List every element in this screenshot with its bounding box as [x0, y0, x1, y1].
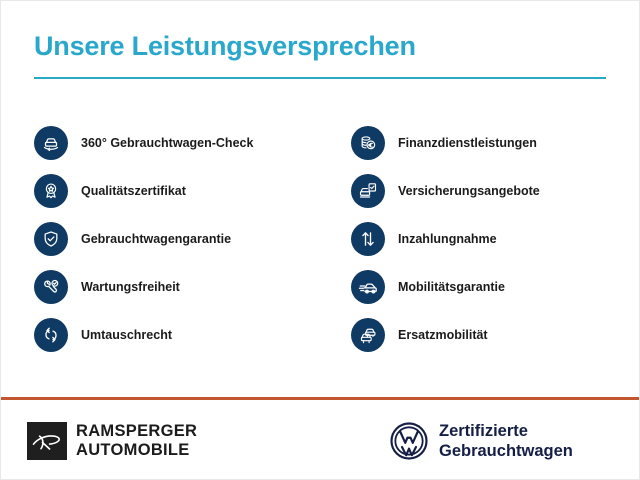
ramsperger-wordmark: RAMSPERGER AUTOMOBILE: [76, 422, 197, 460]
award-seal-icon: [34, 174, 68, 208]
feature-item-qualitaetszertifikat[interactable]: Qualitätszertifikat: [34, 167, 326, 215]
two-cars-icon: [351, 318, 385, 352]
feature-item-inzahlungnahme[interactable]: Inzahlungnahme: [351, 215, 640, 263]
feature-label: Versicherungsangebote: [398, 183, 540, 199]
brand-logo-wordmark: Zertifizierte Gebrauchtwagen: [439, 421, 573, 461]
brand-logo-line1: Zertifizierte: [439, 422, 528, 440]
exchange-arrows-icon: [34, 318, 68, 352]
volkswagen-logo-icon: [389, 421, 429, 461]
feature-label: Umtauschrecht: [81, 327, 172, 343]
feature-label: Ersatzmobilität: [398, 327, 488, 343]
car-360-check-icon: [34, 126, 68, 160]
promise-infographic-page: Unsere Leistungsversprechen 360° Gebrauc: [0, 0, 640, 480]
coins-euro-icon: [351, 126, 385, 160]
feature-item-finanzdienstleistungen[interactable]: Finanzdienstleistungen: [351, 119, 640, 167]
brand-logo[interactable]: Zertifizierte Gebrauchtwagen: [389, 421, 573, 461]
feature-label: Inzahlungnahme: [398, 231, 497, 247]
feature-label: Wartungsfreiheit: [81, 279, 180, 295]
wrench-check-icon: [34, 270, 68, 304]
features-section: 360° Gebrauchtwagen-Check Qualitätszerti…: [1, 119, 640, 359]
feature-item-gebrauchtwagen-check[interactable]: 360° Gebrauchtwagen-Check: [34, 119, 326, 167]
dealer-logo-line1: RAMSPERGER: [76, 422, 197, 440]
title-divider: [34, 77, 606, 79]
dealer-logo[interactable]: RAMSPERGER AUTOMOBILE: [27, 422, 197, 460]
feature-item-mobilitaetsgarantie[interactable]: Mobilitätsgarantie: [351, 263, 640, 311]
dealer-logo-line2: AUTOMOBILE: [76, 441, 190, 459]
ramsperger-r-swoosh-icon: [27, 422, 67, 460]
car-speed-icon: [351, 270, 385, 304]
feature-item-ersatzmobilitaet[interactable]: Ersatzmobilität: [351, 311, 640, 359]
feature-item-umtauschrecht[interactable]: Umtauschrecht: [34, 311, 326, 359]
brand-logo-line2: Gebrauchtwagen: [439, 442, 573, 460]
features-right-column: Finanzdienstleistungen Versicherungsange…: [326, 119, 640, 359]
header: Unsere Leistungsversprechen: [34, 29, 606, 79]
page-title: Unsere Leistungsversprechen: [34, 29, 606, 63]
car-document-icon: [351, 174, 385, 208]
feature-item-gebrauchtwagengarantie[interactable]: Gebrauchtwagengarantie: [34, 215, 326, 263]
feature-label: Qualitätszertifikat: [81, 183, 186, 199]
up-down-arrows-icon: [351, 222, 385, 256]
feature-label: Gebrauchtwagengarantie: [81, 231, 231, 247]
shield-check-icon: [34, 222, 68, 256]
feature-label: Finanzdienstleistungen: [398, 135, 537, 151]
feature-label: Mobilitätsgarantie: [398, 279, 505, 295]
feature-item-wartungsfreiheit[interactable]: Wartungsfreiheit: [34, 263, 326, 311]
footer: RAMSPERGER AUTOMOBILE Zertifizierte Gebr…: [1, 400, 639, 479]
feature-label: 360° Gebrauchtwagen-Check: [81, 135, 253, 151]
feature-item-versicherungsangebote[interactable]: Versicherungsangebote: [351, 167, 640, 215]
features-left-column: 360° Gebrauchtwagen-Check Qualitätszerti…: [1, 119, 326, 359]
